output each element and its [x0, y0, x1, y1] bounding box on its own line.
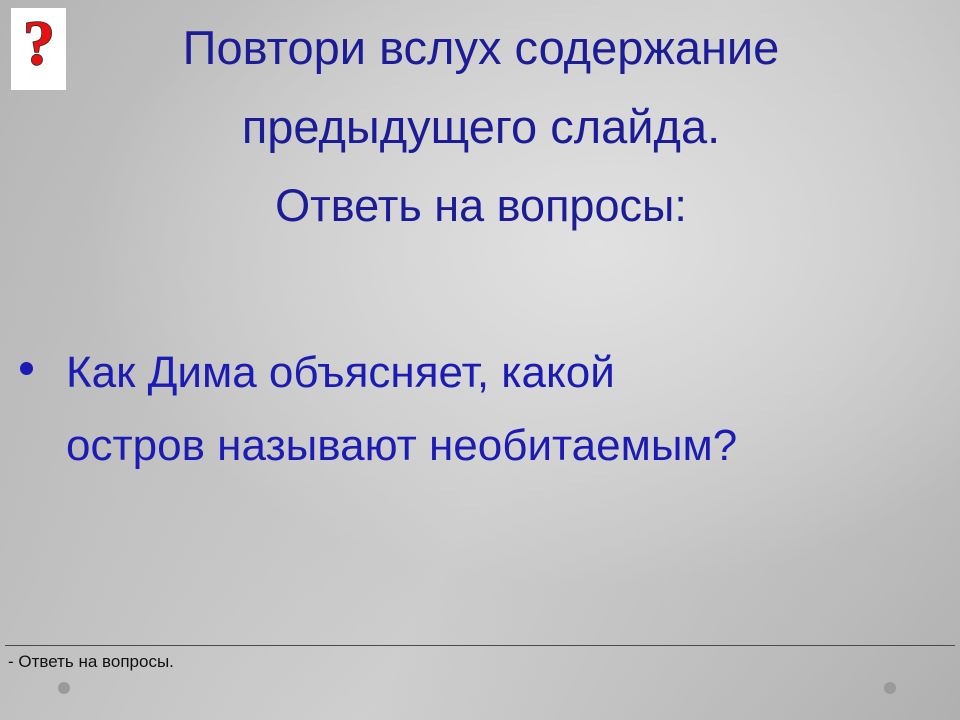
slide-title: Повтори вслух содержание предыдущего сла…	[78, 8, 884, 245]
bullet-line-2: остров называют необитаемым?	[66, 409, 952, 482]
decorative-dot-left	[58, 682, 70, 694]
svg-text:?: ?	[23, 14, 55, 78]
title-line-2: предыдущего слайда.	[78, 87, 884, 166]
question-mark-icon: ?	[17, 14, 61, 84]
title-line-1: Повтори вслух содержание	[78, 8, 884, 87]
decorative-dot-right	[884, 682, 896, 694]
bullet-item: Как Дима объясняет, какой остров называю…	[8, 336, 952, 482]
footer-note: - Ответь на вопросы.	[8, 651, 174, 673]
slide-body: Как Дима объясняет, какой остров называю…	[8, 336, 952, 482]
bullet-marker-icon	[20, 362, 33, 375]
slide-canvas: ? Повтори вслух содержание предыдущего с…	[0, 0, 960, 720]
footer-divider	[5, 645, 955, 646]
question-mark-image: ?	[11, 8, 66, 90]
bullet-text: Как Дима объясняет, какой остров называю…	[66, 336, 952, 482]
bullet-line-1: Как Дима объясняет, какой	[66, 336, 952, 409]
title-line-3: Ответь на вопросы:	[78, 166, 884, 245]
